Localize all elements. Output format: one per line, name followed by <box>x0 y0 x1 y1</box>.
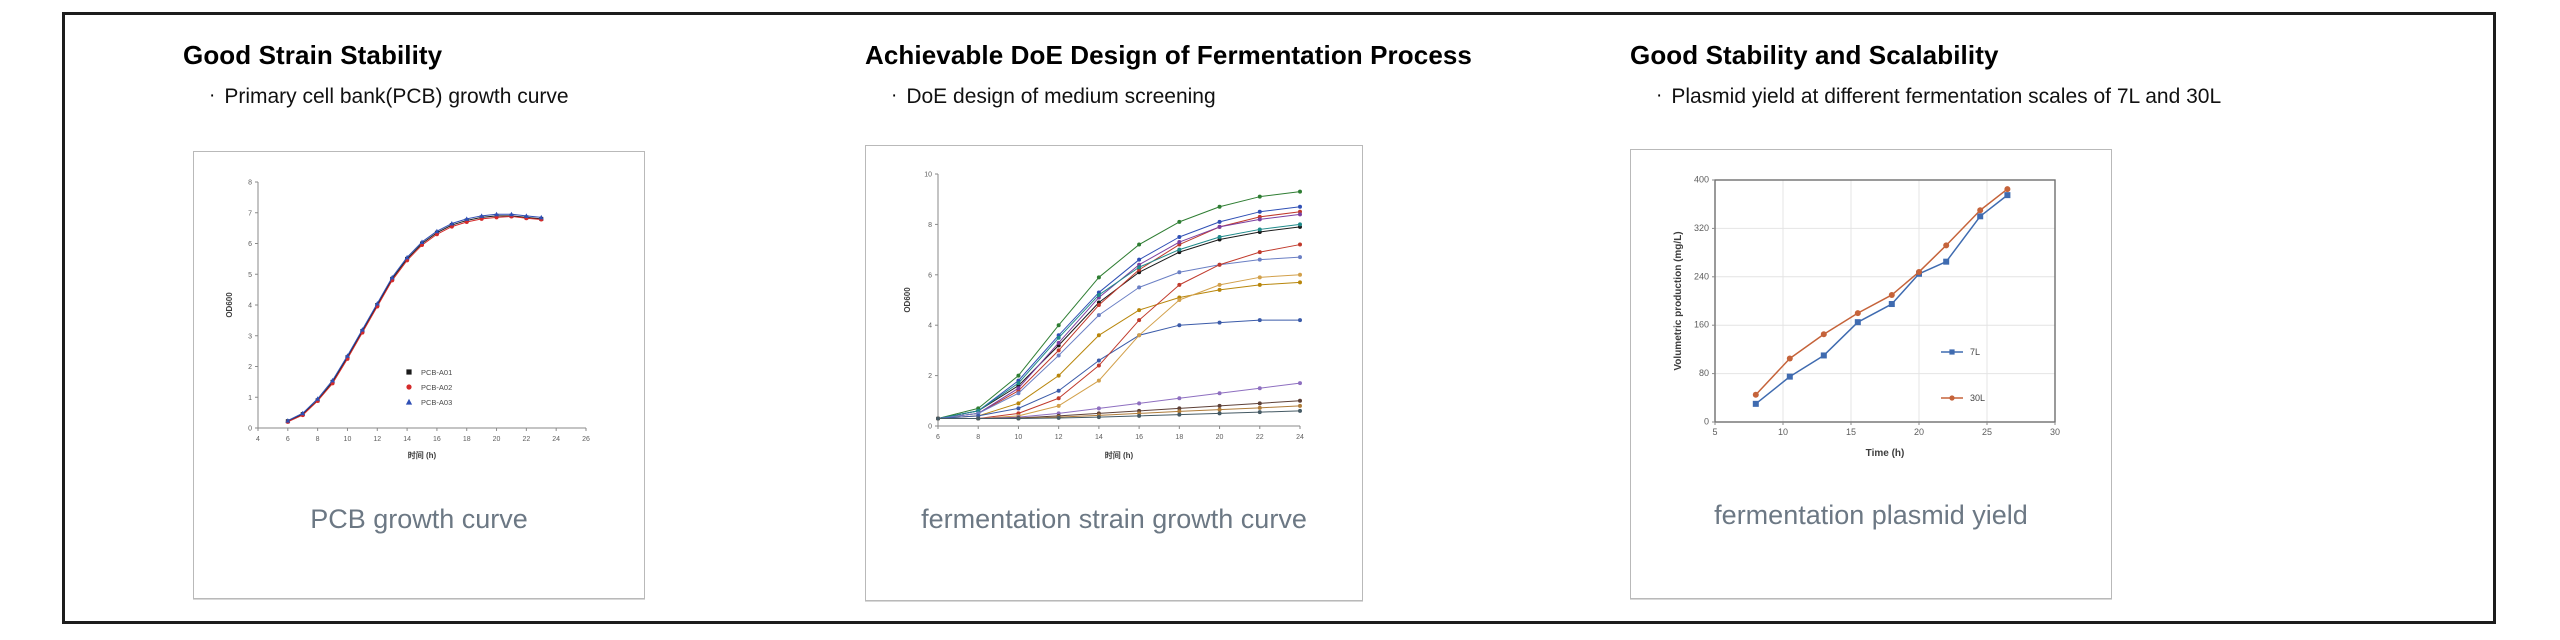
column-2-heading: Achievable DoE Design of Fermentation Pr… <box>865 41 1465 70</box>
bullet-dot-icon: · <box>209 86 215 106</box>
svg-text:16: 16 <box>1135 434 1143 441</box>
svg-text:80: 80 <box>1699 368 1709 378</box>
svg-text:2: 2 <box>248 364 252 371</box>
svg-text:5: 5 <box>1712 427 1717 437</box>
svg-text:8: 8 <box>248 180 252 187</box>
caption-pcb-growth-curve: PCB growth curve <box>194 504 644 535</box>
svg-text:0: 0 <box>248 426 252 433</box>
svg-text:20: 20 <box>1914 427 1924 437</box>
column-strain-stability: Good Strain Stability · Primary cell ban… <box>183 41 743 601</box>
svg-text:8: 8 <box>976 434 980 441</box>
svg-text:20: 20 <box>493 436 501 443</box>
svg-text:10: 10 <box>1015 434 1023 441</box>
svg-text:12: 12 <box>1055 434 1063 441</box>
svg-text:10: 10 <box>1778 427 1788 437</box>
svg-text:24: 24 <box>552 436 560 443</box>
figure-pcb-growth-curve: 468101214161820222426012345678时间 (h)OD60… <box>193 151 645 599</box>
svg-text:22: 22 <box>522 436 530 443</box>
svg-text:8: 8 <box>928 222 932 229</box>
svg-text:160: 160 <box>1694 320 1709 330</box>
svg-text:4: 4 <box>256 436 260 443</box>
svg-text:OD600: OD600 <box>225 292 234 318</box>
bullet-dot-icon: · <box>891 86 897 106</box>
column-2-bullet: · DoE design of medium screening <box>891 86 1465 107</box>
svg-text:14: 14 <box>403 436 411 443</box>
column-3-bullet-text: Plasmid yield at different fermentation … <box>1671 86 2221 107</box>
svg-text:0: 0 <box>928 424 932 431</box>
bullet-dot-icon: · <box>1656 86 1662 106</box>
column-3-heading: Good Stability and Scalability <box>1630 41 2390 70</box>
columns-container: Good Strain Stability · Primary cell ban… <box>65 15 2493 621</box>
svg-text:3: 3 <box>248 333 252 340</box>
column-stability-scalability: Good Stability and Scalability · Plasmid… <box>1630 41 2390 601</box>
svg-text:时间 (h): 时间 (h) <box>1105 450 1134 460</box>
svg-text:7L: 7L <box>1970 347 1980 357</box>
svg-text:320: 320 <box>1694 223 1709 233</box>
svg-text:6: 6 <box>936 434 940 441</box>
svg-text:7: 7 <box>248 210 252 217</box>
svg-text:240: 240 <box>1694 271 1709 281</box>
svg-text:30L: 30L <box>1970 393 1985 403</box>
svg-text:时间 (h): 时间 (h) <box>408 450 437 460</box>
svg-text:5: 5 <box>248 272 252 279</box>
svg-text:26: 26 <box>582 436 590 443</box>
column-doe-design: Achievable DoE Design of Fermentation Pr… <box>865 41 1465 601</box>
svg-text:10: 10 <box>344 436 352 443</box>
svg-text:OD600: OD600 <box>903 287 912 313</box>
svg-text:4: 4 <box>928 323 932 330</box>
svg-text:0: 0 <box>1704 417 1709 427</box>
svg-text:12: 12 <box>373 436 381 443</box>
slide-frame: Good Strain Stability · Primary cell ban… <box>62 12 2496 624</box>
svg-text:Volumetric production (mg/L): Volumetric production (mg/L) <box>1673 231 1684 370</box>
figure-fermentation-plasmid-yield: 51015202530080160240320400Time (h)Volume… <box>1630 149 2112 599</box>
svg-text:4: 4 <box>248 303 252 310</box>
caption-fermentation-plasmid-yield: fermentation plasmid yield <box>1631 500 2111 531</box>
svg-text:25: 25 <box>1982 427 1992 437</box>
chart-pcb-growth-curve: 468101214161820222426012345678时间 (h)OD60… <box>194 160 645 490</box>
chart-fermentation-plasmid-yield: 51015202530080160240320400Time (h)Volume… <box>1631 156 2112 486</box>
svg-text:1: 1 <box>248 395 252 402</box>
svg-text:400: 400 <box>1694 175 1709 185</box>
svg-text:2: 2 <box>928 373 932 380</box>
chart-fermentation-strain-growth: 6810121416182022240246810时间 (h)OD600 <box>866 152 1363 492</box>
svg-text:15: 15 <box>1846 427 1856 437</box>
column-3-bullet: · Plasmid yield at different fermentatio… <box>1656 86 2390 107</box>
svg-text:8: 8 <box>316 436 320 443</box>
svg-text:30: 30 <box>2050 427 2060 437</box>
column-1-heading: Good Strain Stability <box>183 41 743 70</box>
svg-text:22: 22 <box>1256 434 1264 441</box>
svg-text:16: 16 <box>433 436 441 443</box>
svg-text:PCB-A03: PCB-A03 <box>421 398 452 407</box>
svg-text:18: 18 <box>463 436 471 443</box>
svg-text:10: 10 <box>924 172 932 179</box>
column-1-bullet-text: Primary cell bank(PCB) growth curve <box>224 86 568 107</box>
svg-text:PCB-A01: PCB-A01 <box>421 368 452 377</box>
svg-text:20: 20 <box>1216 434 1224 441</box>
svg-text:6: 6 <box>248 241 252 248</box>
figure-fermentation-strain-growth: 6810121416182022240246810时间 (h)OD600 fer… <box>865 145 1363 601</box>
column-2-bullet-text: DoE design of medium screening <box>906 86 1215 107</box>
svg-text:6: 6 <box>286 436 290 443</box>
svg-text:6: 6 <box>928 272 932 279</box>
svg-text:PCB-A02: PCB-A02 <box>421 383 452 392</box>
svg-text:18: 18 <box>1175 434 1183 441</box>
column-1-bullet: · Primary cell bank(PCB) growth curve <box>209 86 743 107</box>
svg-text:14: 14 <box>1095 434 1103 441</box>
svg-text:24: 24 <box>1296 434 1304 441</box>
svg-text:Time (h): Time (h) <box>1866 448 1905 459</box>
caption-fermentation-strain-growth: fermentation strain growth curve <box>866 504 1362 535</box>
